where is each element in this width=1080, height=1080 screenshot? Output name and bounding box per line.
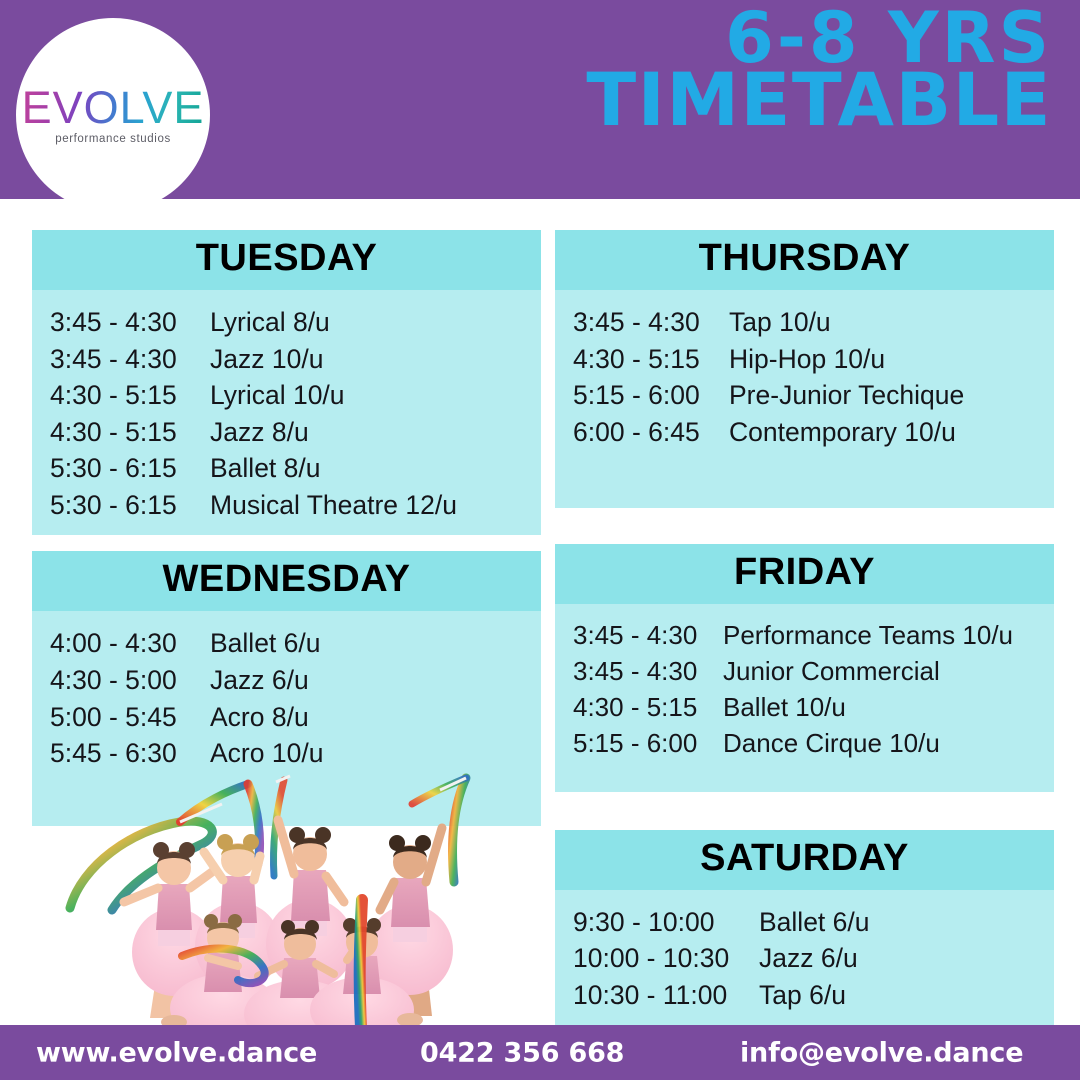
class-row: 4:30 - 5:00 Jazz 6/u xyxy=(32,662,541,699)
page-title-timetable: TIMETABLE xyxy=(586,69,1052,133)
class-row: 4:30 - 5:15 Ballet 10/u xyxy=(555,690,1054,726)
day-title-saturday: SATURDAY xyxy=(555,830,1054,890)
day-class-list-tuesday: 3:45 - 4:30 Lyrical 8/u 3:45 - 4:30 Jazz… xyxy=(32,290,541,535)
class-time: 3:45 - 4:30 xyxy=(50,341,202,378)
class-time: 5:30 - 6:15 xyxy=(50,450,202,487)
footer-website[interactable]: www.evolve.dance xyxy=(36,1037,317,1068)
class-name: Jazz 10/u xyxy=(202,341,323,378)
class-name: Dance Cirque 10/u xyxy=(721,726,940,762)
class-time: 5:15 - 6:00 xyxy=(573,726,721,762)
class-row: 10:30 - 11:00 Tap 6/u xyxy=(555,977,1054,1014)
poster-footer: www.evolve.dance 0422 356 668 info@evolv… xyxy=(0,1025,1080,1080)
class-name: Ballet 10/u xyxy=(721,690,846,726)
class-row: 5:30 - 6:15 Ballet 8/u xyxy=(32,450,541,487)
class-row: 6:00 - 6:45 Contemporary 10/u xyxy=(555,414,1054,451)
class-row: 4:30 - 5:15 Jazz 8/u xyxy=(32,414,541,451)
timetable-poster: EVOLVE performance studios 6-8 YRS TIMET… xyxy=(0,0,1080,1080)
class-name: Tap 10/u xyxy=(725,304,831,341)
class-time: 3:45 - 4:30 xyxy=(50,304,202,341)
day-class-list-thursday: 3:45 - 4:30 Tap 10/u 4:30 - 5:15 Hip-Hop… xyxy=(555,290,1054,508)
day-card-thursday: THURSDAY 3:45 - 4:30 Tap 10/u 4:30 - 5:1… xyxy=(555,230,1054,508)
class-name: Contemporary 10/u xyxy=(725,414,956,451)
class-row: 5:15 - 6:00 Pre-Junior Techique xyxy=(555,377,1054,414)
evolve-logo: EVOLVE performance studios xyxy=(16,18,210,199)
class-time: 3:45 - 4:30 xyxy=(573,654,721,690)
class-name: Pre-Junior Techique xyxy=(725,377,964,414)
class-row: 5:15 - 6:00 Dance Cirque 10/u xyxy=(555,726,1054,762)
class-name: Ballet 6/u xyxy=(751,904,870,941)
day-title-wednesday: WEDNESDAY xyxy=(32,551,541,611)
poster-header: EVOLVE performance studios 6-8 YRS TIMET… xyxy=(0,0,1080,199)
day-class-list-friday: 3:45 - 4:30 Performance Teams 10/u 3:45 … xyxy=(555,604,1054,792)
schedule-column-right: THURSDAY 3:45 - 4:30 Tap 10/u 4:30 - 5:1… xyxy=(555,230,1054,1080)
day-card-tuesday: TUESDAY 3:45 - 4:30 Lyrical 8/u 3:45 - 4… xyxy=(32,230,541,535)
class-time: 5:15 - 6:00 xyxy=(573,377,725,414)
class-time: 3:45 - 4:30 xyxy=(573,618,721,654)
class-row: 9:30 - 10:00 Ballet 6/u xyxy=(555,904,1054,941)
class-name: Jazz 6/u xyxy=(202,662,309,699)
class-name: Jazz 8/u xyxy=(202,414,309,451)
class-name: Lyrical 10/u xyxy=(202,377,345,414)
class-name: Hip-Hop 10/u xyxy=(725,341,885,378)
day-title-friday: FRIDAY xyxy=(555,544,1054,604)
class-name: Lyrical 8/u xyxy=(202,304,330,341)
class-time: 4:30 - 5:00 xyxy=(50,662,202,699)
class-time: 9:30 - 10:00 xyxy=(573,904,751,941)
class-name: Musical Theatre 12/u xyxy=(202,487,457,524)
class-row: 4:30 - 5:15 Lyrical 10/u xyxy=(32,377,541,414)
class-time: 6:00 - 6:45 xyxy=(573,414,725,451)
class-row: 4:00 - 4:30 Ballet 6/u xyxy=(32,625,541,662)
class-row: 10:00 - 10:30 Jazz 6/u xyxy=(555,940,1054,977)
class-time: 3:45 - 4:30 xyxy=(573,304,725,341)
class-row: 3:45 - 4:30 Junior Commercial xyxy=(555,654,1054,690)
class-row: 3:45 - 4:30 Performance Teams 10/u xyxy=(555,618,1054,654)
class-row: 4:30 - 5:15 Hip-Hop 10/u xyxy=(555,341,1054,378)
page-title: 6-8 YRS TIMETABLE xyxy=(586,8,1052,132)
dancers-illustration xyxy=(62,760,482,1050)
day-title-tuesday: TUESDAY xyxy=(32,230,541,290)
class-row: 3:45 - 4:30 Jazz 10/u xyxy=(32,341,541,378)
class-time: 4:30 - 5:15 xyxy=(50,414,202,451)
class-name: Acro 8/u xyxy=(202,699,309,736)
class-name: Ballet 6/u xyxy=(202,625,321,662)
class-row: 5:30 - 6:15 Musical Theatre 12/u xyxy=(32,487,541,524)
logo-tagline: performance studios xyxy=(55,133,171,145)
class-name: Junior Commercial xyxy=(721,654,940,690)
class-name: Tap 6/u xyxy=(751,977,846,1014)
day-card-friday: FRIDAY 3:45 - 4:30 Performance Teams 10/… xyxy=(555,544,1054,792)
class-time: 4:30 - 5:15 xyxy=(573,341,725,378)
class-time: 4:00 - 4:30 xyxy=(50,625,202,662)
footer-email[interactable]: info@evolve.dance xyxy=(740,1037,1023,1068)
class-name: Jazz 6/u xyxy=(751,940,858,977)
logo-wordmark: EVOLVE xyxy=(22,85,205,130)
class-row: 3:45 - 4:30 Lyrical 8/u xyxy=(32,304,541,341)
class-row: 3:45 - 4:30 Tap 10/u xyxy=(555,304,1054,341)
class-name: Ballet 8/u xyxy=(202,450,321,487)
class-row: 5:00 - 5:45 Acro 8/u xyxy=(32,699,541,736)
class-time: 10:00 - 10:30 xyxy=(573,940,751,977)
class-time: 4:30 - 5:15 xyxy=(50,377,202,414)
footer-phone[interactable]: 0422 356 668 xyxy=(420,1037,624,1068)
class-time: 4:30 - 5:15 xyxy=(573,690,721,726)
class-time: 10:30 - 11:00 xyxy=(573,977,751,1014)
day-title-thursday: THURSDAY xyxy=(555,230,1054,290)
class-time: 5:30 - 6:15 xyxy=(50,487,202,524)
dancers-photo xyxy=(62,760,482,1050)
class-name: Performance Teams 10/u xyxy=(721,618,1013,654)
class-time: 5:00 - 5:45 xyxy=(50,699,202,736)
schedule-column-left: TUESDAY 3:45 - 4:30 Lyrical 8/u 3:45 - 4… xyxy=(32,230,541,826)
